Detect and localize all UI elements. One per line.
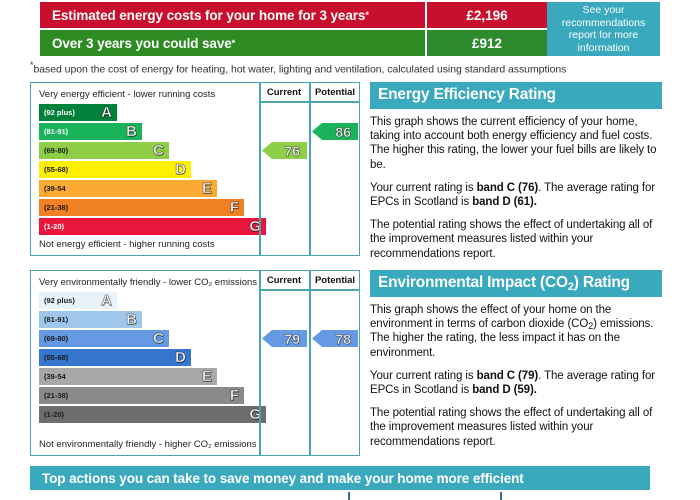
co2-current-rating-arrow: 79 bbox=[262, 330, 307, 347]
energy-chart-divider-potential bbox=[309, 83, 311, 255]
co2-chart-divider-potential bbox=[309, 271, 311, 455]
rating-bar-c: (69-80)C bbox=[39, 330, 169, 347]
co2-p1-pre: This graph shows the effect of your home… bbox=[370, 304, 611, 330]
cost-row-estimated-label-text: Estimated energy costs for your home for… bbox=[52, 8, 365, 23]
co2-chart-divider-current bbox=[259, 271, 261, 455]
rating-bar-range-a: (92 plus) bbox=[39, 108, 75, 117]
co2-panel-title-subscript: 2 bbox=[568, 281, 574, 293]
rating-bar-letter-c: C bbox=[153, 142, 164, 159]
rating-bar-range-d: (55-68) bbox=[39, 353, 68, 362]
co2-impact-info-panel: Environmental Impact (CO2) Rating This g… bbox=[370, 270, 662, 449]
rating-bar-b: (81-91)B bbox=[39, 311, 142, 328]
energy-chart-caption-bottom: Not energy efficient - higher running co… bbox=[39, 239, 215, 250]
co2-panel-paragraph-3: The potential rating shows the effect of… bbox=[370, 406, 662, 449]
cost-row-estimated-star: * bbox=[365, 10, 368, 20]
rating-bar-f: (21-38)F bbox=[39, 199, 244, 216]
energy-chart-col-rule bbox=[259, 101, 359, 103]
energy-p2-pre: Your current rating is bbox=[370, 182, 477, 194]
rating-bar-range-a: (92 plus) bbox=[39, 296, 75, 305]
co2-potential-rating-arrow: 78 bbox=[312, 330, 358, 347]
energy-p2-average-band: band D (61). bbox=[472, 196, 537, 208]
rating-bar-range-g: (1-20) bbox=[39, 222, 64, 231]
co2-panel-title-post: ) Rating bbox=[574, 274, 630, 291]
energy-chart-col-potential: Potential bbox=[309, 87, 361, 98]
rating-bar-letter-b: B bbox=[126, 311, 137, 328]
co2-chart-caption-bottom: Not environmentally friendly - higher CO… bbox=[39, 439, 257, 450]
cost-row-estimated-label: Estimated energy costs for your home for… bbox=[40, 2, 425, 28]
rating-bar-g: (1-20)G bbox=[39, 218, 266, 235]
rating-bar-range-c: (69-80) bbox=[39, 334, 68, 343]
energy-chart-divider-current bbox=[259, 83, 261, 255]
rating-bar-e: (39-54E bbox=[39, 180, 217, 197]
co2-impact-chart: Very environmentally friendly - lower CO… bbox=[30, 270, 360, 456]
rating-bar-range-g: (1-20) bbox=[39, 410, 64, 419]
rating-bar-range-e: (39-54 bbox=[39, 184, 66, 193]
energy-efficiency-chart: Very energy efficient - lower running co… bbox=[30, 82, 360, 256]
rating-bar-range-b: (81-91) bbox=[39, 127, 68, 136]
rating-bar-a: (92 plus)A bbox=[39, 104, 117, 121]
rating-bar-range-b: (81-91) bbox=[39, 315, 68, 324]
co2-p2-average-band: band D (59). bbox=[472, 384, 537, 396]
co2-chart-caption-top: Very environmentally friendly - lower CO… bbox=[39, 277, 257, 288]
rating-bar-b: (81-91)B bbox=[39, 123, 142, 140]
energy-p2-current-band: band C (76) bbox=[477, 182, 539, 194]
rating-bar-letter-b: B bbox=[126, 123, 137, 140]
co2-panel-body: This graph shows the effect of your home… bbox=[370, 297, 662, 449]
rating-bar-range-f: (21-38) bbox=[39, 203, 68, 212]
rating-bar-e: (39-54E bbox=[39, 368, 217, 385]
energy-panel-paragraph-2: Your current rating is band C (76). The … bbox=[370, 181, 662, 209]
co2-panel-paragraph-2: Your current rating is band C (79). The … bbox=[370, 369, 662, 397]
rating-bar-g: (1-20)G bbox=[39, 406, 266, 423]
co2-p1-subscript: 2 bbox=[588, 321, 593, 331]
energy-panel-paragraph-1: This graph shows the current efficiency … bbox=[370, 115, 662, 172]
rating-bar-letter-f: F bbox=[230, 199, 239, 216]
co2-panel-title-pre: Environmental Impact (CO bbox=[378, 274, 568, 291]
rating-bar-d: (55-68)D bbox=[39, 349, 191, 366]
cost-row-savings-value: £912 bbox=[425, 30, 547, 56]
rating-bar-f: (21-38)F bbox=[39, 387, 244, 404]
energy-panel-body: This graph shows the current efficiency … bbox=[370, 109, 662, 261]
co2-p2-current-band: band C (79) bbox=[477, 370, 539, 382]
co2-p2-pre: Your current rating is bbox=[370, 370, 477, 382]
cost-footnote: *based upon the cost of energy for heati… bbox=[30, 60, 566, 76]
rating-bar-letter-e: E bbox=[202, 368, 212, 385]
co2-panel-title: Environmental Impact (CO2) Rating bbox=[370, 270, 662, 297]
actions-table-tick-2 bbox=[500, 492, 502, 500]
co2-chart-col-current: Current bbox=[259, 275, 309, 286]
energy-panel-title: Energy Efficiency Rating bbox=[370, 82, 662, 109]
energy-chart-col-current: Current bbox=[259, 87, 309, 98]
rating-bar-letter-c: C bbox=[153, 330, 164, 347]
co2-panel-paragraph-1: This graph shows the effect of your home… bbox=[370, 303, 662, 360]
rating-bar-range-e: (39-54 bbox=[39, 372, 66, 381]
energy-efficiency-info-panel: Energy Efficiency Rating This graph show… bbox=[370, 82, 662, 261]
rating-bar-letter-d: D bbox=[175, 349, 186, 366]
rating-bar-letter-a: A bbox=[101, 104, 112, 121]
cost-row-savings-label: Over 3 years you could save* bbox=[40, 30, 425, 56]
energy-potential-rating-arrow: 86 bbox=[312, 123, 358, 140]
energy-cost-header: Estimated energy costs for your home for… bbox=[40, 2, 660, 56]
co2-chart-col-rule bbox=[259, 289, 359, 291]
rating-bar-a: (92 plus)A bbox=[39, 292, 117, 309]
rating-bar-letter-a: A bbox=[101, 292, 112, 309]
cost-row-savings-label-text: Over 3 years you could save bbox=[52, 36, 232, 51]
rating-bar-letter-d: D bbox=[175, 161, 186, 178]
top-actions-heading: Top actions you can take to save money a… bbox=[30, 466, 650, 490]
cost-row-savings-star: * bbox=[232, 38, 235, 48]
cost-footnote-text: based upon the cost of energy for heatin… bbox=[33, 64, 566, 76]
rating-bar-letter-e: E bbox=[202, 180, 212, 197]
co2-chart-col-potential: Potential bbox=[309, 275, 361, 286]
rating-bar-c: (69-80)C bbox=[39, 142, 169, 159]
energy-chart-caption-top: Very energy efficient - lower running co… bbox=[39, 89, 215, 100]
rating-bar-range-f: (21-38) bbox=[39, 391, 68, 400]
recommendations-note: See your recommendations report for more… bbox=[547, 2, 660, 56]
cost-row-estimated-value: £2,196 bbox=[425, 2, 547, 28]
energy-current-rating-arrow: 76 bbox=[262, 142, 307, 159]
actions-table-tick-1 bbox=[348, 492, 350, 500]
rating-bar-d: (55-68)D bbox=[39, 161, 191, 178]
rating-bar-range-d: (55-68) bbox=[39, 165, 68, 174]
energy-panel-paragraph-3: The potential rating shows the effect of… bbox=[370, 218, 662, 261]
rating-bar-range-c: (69-80) bbox=[39, 146, 68, 155]
rating-bar-letter-f: F bbox=[230, 387, 239, 404]
